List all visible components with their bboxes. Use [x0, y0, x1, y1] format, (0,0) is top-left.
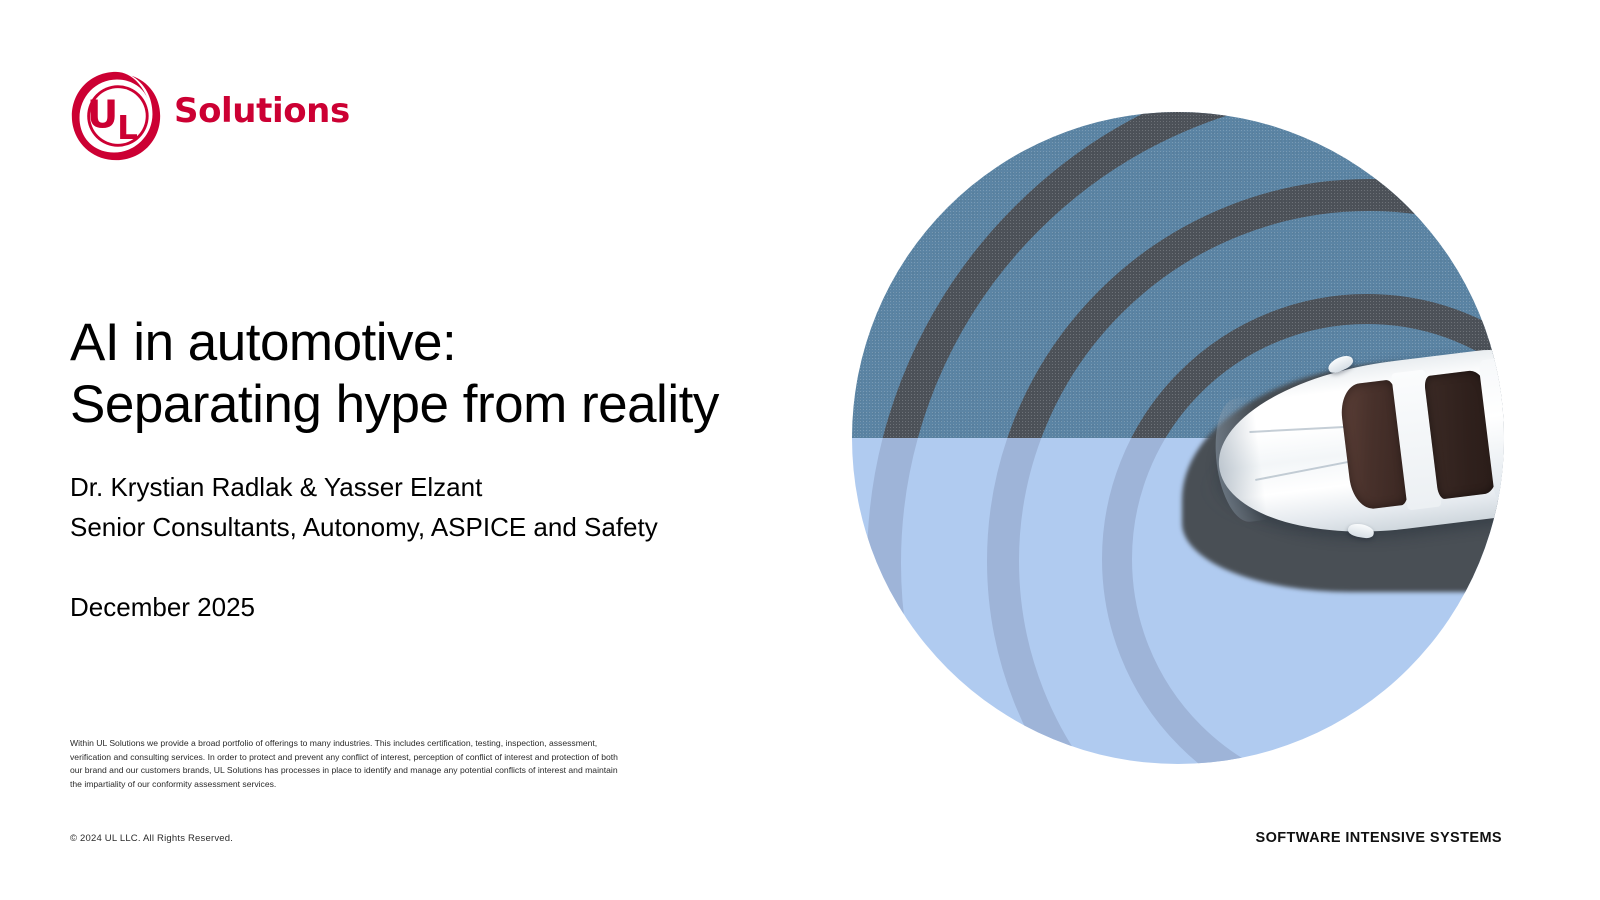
slide-title: AI in automotive: Separating hype from r…: [70, 312, 860, 436]
ul-circle-logo-icon: U L: [68, 68, 164, 164]
hero-scene: [852, 112, 1504, 764]
logo-wordmark: Solutions: [174, 94, 350, 128]
svg-text:U: U: [87, 93, 118, 138]
title-line-2: Separating hype from reality: [70, 374, 860, 436]
copyright-notice: © 2024 UL LLC. All Rights Reserved.: [70, 833, 233, 844]
footer-tagline: SOFTWARE INTENSIVE SYSTEMS: [1256, 830, 1502, 846]
disclaimer-line-4: the impartiality of our conformity asses…: [70, 778, 720, 792]
ul-solutions-logo: U L Solutions: [68, 68, 368, 164]
presenter-block: Dr. Krystian Radlak & Yasser Elzant Seni…: [70, 467, 830, 548]
title-line-1: AI in automotive:: [70, 312, 860, 374]
hero-circle-image: [852, 112, 1504, 764]
disclaimer-line-2: verification and consulting services. In…: [70, 751, 720, 765]
presentation-date: December 2025: [70, 592, 255, 623]
disclaimer-line-1: Within UL Solutions we provide a broad p…: [70, 737, 720, 751]
svg-text:L: L: [117, 109, 138, 147]
presenter-names: Dr. Krystian Radlak & Yasser Elzant: [70, 467, 830, 507]
disclaimer-line-3: our brand and our customers brands, UL S…: [70, 764, 720, 778]
slide-canvas: U L Solutions AI in automotive: Separati…: [0, 0, 1600, 900]
presenter-roles: Senior Consultants, Autonomy, ASPICE and…: [70, 507, 830, 547]
disclaimer-text: Within UL Solutions we provide a broad p…: [70, 737, 720, 791]
